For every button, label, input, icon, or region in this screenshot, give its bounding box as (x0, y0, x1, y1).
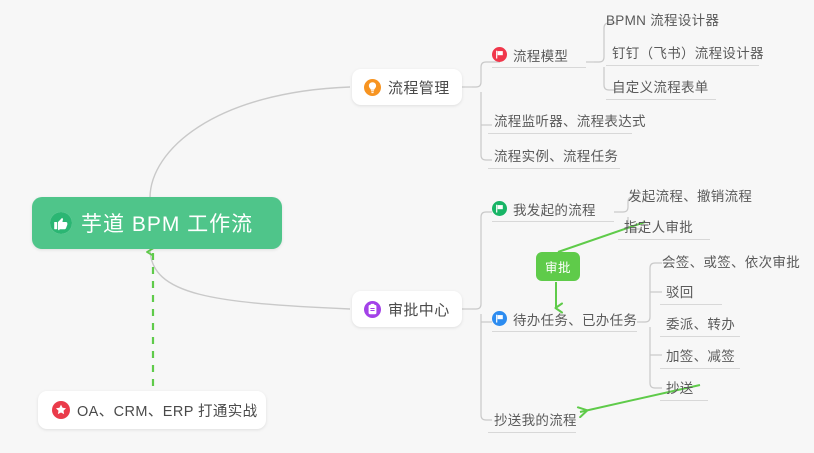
branch-label-approval-center: 审批中心 (388, 299, 450, 320)
flag-icon (492, 47, 507, 62)
leaf-label: 指定人审批 (624, 220, 693, 235)
leaf-process-listener[interactable]: 流程监听器、流程表达式 (488, 110, 632, 134)
leaf-cc[interactable]: 抄送 (660, 377, 708, 401)
leaf-label: BPMN 流程设计器 (606, 13, 719, 28)
leaf-label: 委派、转办 (666, 317, 735, 332)
star-icon (52, 401, 70, 419)
branch-node-approval-center[interactable]: 审批中心 (352, 291, 462, 327)
leaf-dingtalk-designer[interactable]: 钉钉（飞书）流程设计器 (606, 42, 759, 66)
leaf-label: 驳回 (666, 285, 694, 300)
approval-badge-label: 审批 (545, 261, 571, 275)
subnode-process-model[interactable]: 流程模型 (492, 46, 586, 68)
leaf-process-instance[interactable]: 流程实例、流程任务 (488, 145, 620, 169)
leaf-cc-to-me[interactable]: 抄送我的流程 (488, 409, 576, 433)
leaf-start-cancel-process[interactable]: 发起流程、撤销流程 (622, 185, 750, 209)
leaf-label: 自定义流程表单 (612, 80, 709, 95)
branch-node-process-management[interactable]: 流程管理 (352, 69, 462, 105)
leaf-custom-form[interactable]: 自定义流程表单 (606, 76, 716, 100)
leaf-assignee-approval[interactable]: 指定人审批 (618, 216, 710, 240)
bottom-node-oa-crm-erp[interactable]: OA、CRM、ERP 打通实战 (38, 391, 266, 429)
leaf-bpmn-designer[interactable]: BPMN 流程设计器 (600, 9, 730, 33)
mindmap-canvas: 芋道 BPM 工作流 OA、CRM、ERP 打通实战 流程管理 (0, 0, 814, 453)
leaf-delegate-transfer[interactable]: 委派、转办 (660, 313, 740, 337)
thumbs-up-icon (50, 212, 72, 234)
branch-label-process-management: 流程管理 (388, 77, 450, 98)
subnode-label-my-initiated: 我发起的流程 (513, 199, 596, 219)
leaf-reject[interactable]: 驳回 (660, 281, 722, 305)
subnode-my-initiated[interactable]: 我发起的流程 (492, 200, 614, 222)
leaf-label: 发起流程、撤销流程 (628, 189, 752, 204)
clipboard-icon (364, 301, 381, 318)
leaf-label: 抄送我的流程 (494, 413, 577, 428)
leaf-label: 流程实例、流程任务 (494, 149, 618, 164)
leaf-label: 抄送 (666, 381, 694, 396)
leaf-add-remove-sign[interactable]: 加签、减签 (660, 345, 740, 369)
leaf-countersign[interactable]: 会签、或签、依次审批 (656, 251, 784, 275)
root-label: 芋道 BPM 工作流 (81, 208, 253, 238)
approval-badge[interactable]: 审批 (536, 252, 580, 281)
flag-icon (492, 201, 507, 216)
leaf-label: 会签、或签、依次审批 (662, 255, 800, 270)
subnode-label-todo-done-tasks: 待办任务、已办任务 (513, 309, 637, 329)
subnode-label-process-model: 流程模型 (513, 45, 568, 65)
subnode-todo-done-tasks[interactable]: 待办任务、已办任务 (492, 310, 637, 332)
leaf-label: 流程监听器、流程表达式 (494, 114, 646, 129)
root-node[interactable]: 芋道 BPM 工作流 (32, 197, 282, 249)
leaf-label: 钉钉（飞书）流程设计器 (612, 46, 764, 61)
leaf-label: 加签、减签 (666, 349, 735, 364)
bottom-node-label: OA、CRM、ERP 打通实战 (77, 400, 258, 421)
lightbulb-icon (364, 79, 381, 96)
flag-icon (492, 311, 507, 326)
